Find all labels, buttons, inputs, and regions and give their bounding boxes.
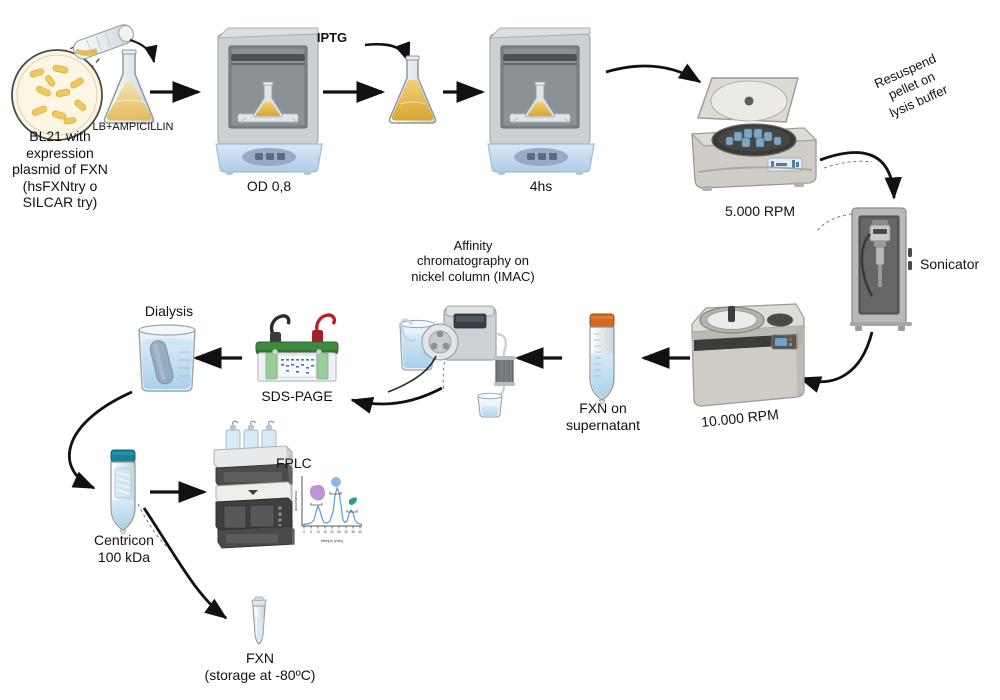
beaker-icon bbox=[131, 322, 203, 394]
flask-lb-label: LB+AMPICILLIN bbox=[85, 121, 181, 134]
arrow-centrifuge-to-sonicator bbox=[820, 153, 894, 198]
svg-text:25: 25 bbox=[337, 530, 341, 534]
erlenmeyer-flask-iptg-icon bbox=[384, 54, 442, 126]
iptg-label: IPTG bbox=[300, 30, 364, 45]
svg-text:20: 20 bbox=[330, 530, 334, 534]
svg-text:35: 35 bbox=[351, 530, 355, 534]
chromatogram-ylabel: Absorbancia bbox=[294, 491, 298, 511]
chromatogram-xlabel: tiempo (min) bbox=[321, 538, 344, 543]
sds-page-label: SDS-PAGE bbox=[248, 388, 346, 405]
shaking-incubator-icon bbox=[214, 26, 324, 174]
incubator-od-label: OD 0,8 bbox=[219, 178, 319, 195]
svg-text:15: 15 bbox=[323, 530, 327, 534]
centrifuge-5000-label: 5.000 RPM bbox=[705, 203, 815, 220]
peak-2-blob-icon bbox=[331, 477, 341, 487]
dashed-connector-resuspend bbox=[824, 161, 872, 168]
workflow-diagram: BL21 with expression plasmid of FXN (hsF… bbox=[0, 0, 1000, 700]
fplc-instrument-icon bbox=[208, 424, 296, 548]
peak-1-bracket bbox=[311, 503, 322, 505]
sonicator-icon bbox=[846, 204, 918, 332]
floor-centrifuge-icon bbox=[684, 298, 810, 412]
peak-3-blob-icon bbox=[349, 497, 357, 505]
shaking-incubator-4hs-icon bbox=[486, 26, 596, 174]
benchtop-centrifuge-icon bbox=[682, 72, 822, 200]
peristaltic-pump-icon bbox=[386, 300, 532, 418]
fplc-chromatogram: 0510 152025 303540 tiempo (min) Absorban… bbox=[288, 470, 368, 550]
svg-text:10: 10 bbox=[316, 530, 320, 534]
arrow-sonicator-to-centrifuge10k bbox=[800, 332, 872, 382]
peak-1-blob-icon bbox=[310, 485, 325, 501]
svg-text:0: 0 bbox=[303, 530, 305, 534]
svg-text:5: 5 bbox=[310, 530, 312, 534]
centricon-tube-icon bbox=[104, 448, 142, 534]
resuspend-note-label: Resuspend pellet on lysis buffer bbox=[855, 43, 970, 130]
incubator-4hs-label: 4hs bbox=[491, 178, 591, 195]
fxn-storage-label: FXN (storage at -80ºC) bbox=[182, 650, 338, 683]
erlenmeyer-flask-icon bbox=[98, 48, 160, 126]
centricon-label: Centricon 100 kDa bbox=[78, 532, 170, 565]
falcon-supernatant-label: FXN on supernatant bbox=[551, 400, 655, 433]
electrophoresis-tank-icon bbox=[248, 312, 346, 386]
falcon-tube-icon bbox=[584, 312, 620, 404]
svg-text:40: 40 bbox=[358, 530, 362, 534]
eppendorf-tube-icon bbox=[246, 596, 272, 646]
sonicator-label: Sonicator bbox=[920, 256, 1000, 273]
svg-text:30: 30 bbox=[344, 530, 348, 534]
petri-label: BL21 with expression plasmid of FXN (hsF… bbox=[0, 128, 120, 211]
dialysis-label: Dialysis bbox=[126, 303, 212, 320]
imac-title-label: Affinity chromatography on nickel column… bbox=[381, 238, 565, 284]
